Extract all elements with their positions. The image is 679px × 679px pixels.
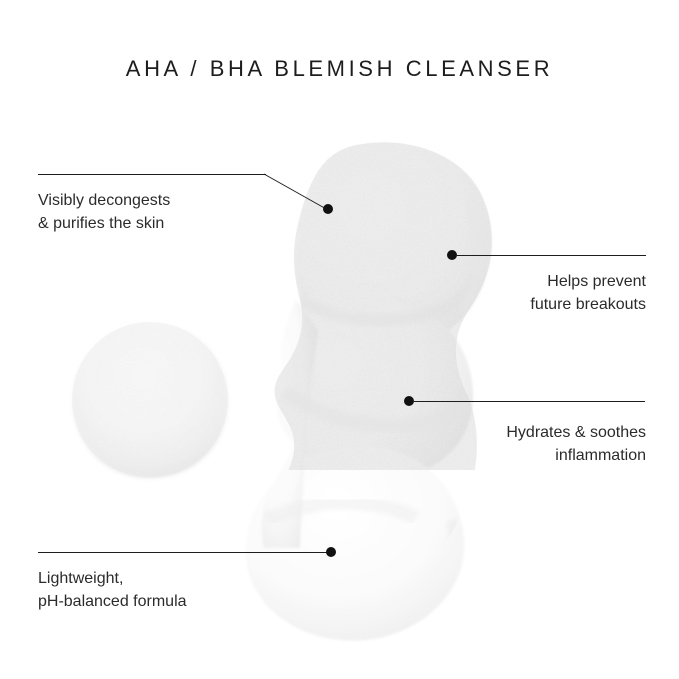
callout-line-visibly-decongests bbox=[38, 174, 266, 175]
callout-dot-lightweight-ph bbox=[326, 547, 336, 557]
infographic-canvas: AHA / BHA BLEMISH CLEANSER bbox=[0, 0, 679, 679]
page-title: AHA / BHA BLEMISH CLEANSER bbox=[0, 56, 679, 82]
callout-line-hydrates-soothes bbox=[414, 401, 645, 402]
foam-contour-shading bbox=[268, 200, 480, 628]
callout-line-1: Visibly decongests bbox=[38, 192, 170, 209]
callout-line-2: future breakouts bbox=[530, 296, 646, 313]
callout-line-2: pH-balanced formula bbox=[38, 593, 187, 610]
cream-dollop-texture bbox=[70, 320, 230, 480]
callout-line-1: Lightweight, bbox=[38, 570, 123, 587]
callout-dot-hydrates-soothes bbox=[404, 396, 414, 406]
callout-label-visibly-decongests: Visibly decongests& purifies the skin bbox=[38, 189, 278, 235]
callout-line-1: Helps prevent bbox=[547, 273, 646, 290]
callout-label-lightweight-ph: Lightweight,pH-balanced formula bbox=[38, 567, 308, 613]
cream-dollop-shape bbox=[72, 322, 228, 478]
callout-line-2: inflammation bbox=[555, 447, 646, 464]
callout-line-helps-prevent bbox=[457, 255, 646, 256]
callout-line-2: & purifies the skin bbox=[38, 215, 164, 232]
callout-label-helps-prevent: Helps preventfuture breakouts bbox=[386, 270, 646, 316]
callout-line-1: Hydrates & soothes bbox=[506, 424, 646, 441]
callout-label-hydrates-soothes: Hydrates & soothesinflammation bbox=[366, 421, 646, 467]
callout-dot-helps-prevent bbox=[447, 250, 457, 260]
foam-swoosh-shape bbox=[245, 142, 491, 640]
callout-line-lightweight-ph bbox=[38, 552, 331, 553]
callout-dot-visibly-decongests bbox=[323, 204, 333, 214]
